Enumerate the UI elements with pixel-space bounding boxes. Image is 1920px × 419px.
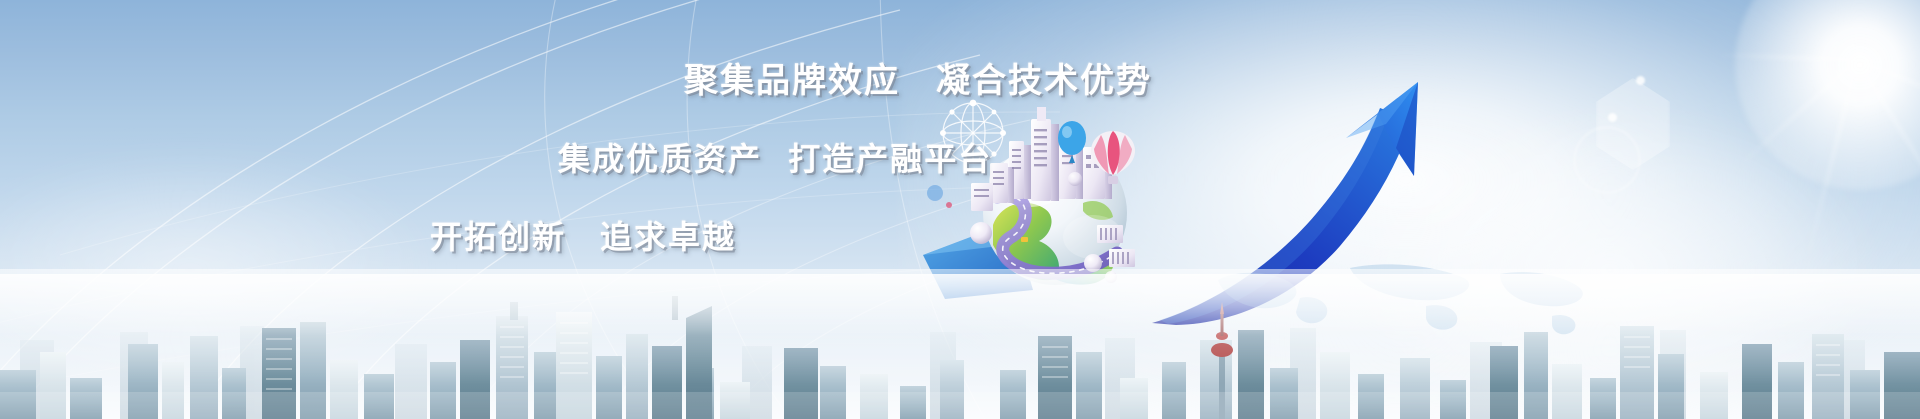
hero-banner: 聚集品牌效应 凝合技术优势 集成优质资产 打造产融平台 开拓创新 追求卓越 xyxy=(0,0,1920,419)
city-skyline-silhouette xyxy=(0,274,1920,419)
sun-ray-icon xyxy=(1805,60,1858,264)
sun-icon xyxy=(1735,0,1920,190)
lens-flare-dot-icon xyxy=(1608,113,1617,122)
lens-flare-dot-icon xyxy=(1636,76,1645,85)
sun-ray-icon xyxy=(1737,59,1857,168)
sun-ray-icon xyxy=(1856,59,1920,238)
lens-flare-ring-icon xyxy=(1573,126,1641,194)
sun-ray-icon xyxy=(1857,59,1920,117)
sun-ray-icon xyxy=(1717,54,1857,61)
slogan-line-2: 集成优质资产 打造产融平台 xyxy=(558,134,992,180)
lens-flare-hex-icon xyxy=(1596,78,1670,170)
slogan-line-1: 聚集品牌效应 凝合技术优势 xyxy=(684,53,1152,102)
slogan-line-3: 开拓创新 追求卓越 xyxy=(430,212,736,258)
